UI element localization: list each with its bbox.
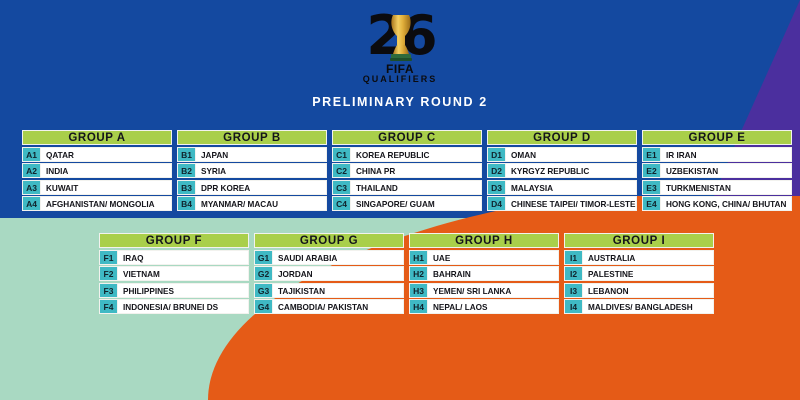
group-table-group-i: GROUP II1AUSTRALIAI2PALESTINEI3LEBANONI4… (564, 233, 714, 314)
table-row: A3KUWAIT (22, 180, 172, 195)
seed-code: E2 (642, 163, 661, 178)
table-row: C2CHINA PR (332, 163, 482, 178)
team-name: NEPAL/ LAOS (428, 299, 559, 314)
seed-code: E4 (642, 196, 661, 211)
table-row: A1QATAR (22, 147, 172, 162)
table-row: A4AFGHANISTAN/ MONGOLIA (22, 196, 172, 211)
seed-code: C2 (332, 163, 351, 178)
table-row: F3PHILIPPINES (99, 283, 249, 298)
seed-code: E1 (642, 147, 661, 162)
table-row: D2KYRGYZ REPUBLIC (487, 163, 637, 178)
group-header: GROUP E (642, 130, 792, 145)
team-name: CHINA PR (351, 163, 482, 178)
group-header: GROUP I (564, 233, 714, 248)
seed-code: D3 (487, 180, 506, 195)
table-row: F4INDONESIA/ BRUNEI DS (99, 299, 249, 314)
table-row: G3TAJIKISTAN (254, 283, 404, 298)
seed-code: H3 (409, 283, 428, 298)
team-name: HONG KONG, CHINA/ BHUTAN (661, 196, 792, 211)
team-name: UAE (428, 250, 559, 265)
table-row: F1IRAQ (99, 250, 249, 265)
logo-qualifiers-text: QUALIFIERS (352, 74, 448, 84)
table-row: H2BAHRAIN (409, 266, 559, 281)
seed-code: D1 (487, 147, 506, 162)
poster-canvas: 26 FIFA QUALIFIERS PRELIMINARY ROUND (0, 0, 800, 400)
seed-code: H2 (409, 266, 428, 281)
table-row: E4HONG KONG, CHINA/ BHUTAN (642, 196, 792, 211)
table-row: E2UZBEKISTAN (642, 163, 792, 178)
team-name: AFGHANISTAN/ MONGOLIA (41, 196, 172, 211)
group-table-group-e: GROUP EE1IR IRANE2UZBEKISTANE3TURKMENIST… (642, 130, 792, 211)
team-name: UZBEKISTAN (661, 163, 792, 178)
table-row: H4NEPAL/ LAOS (409, 299, 559, 314)
table-row: D3MALAYSIA (487, 180, 637, 195)
group-header: GROUP F (99, 233, 249, 248)
table-row: B2SYRIA (177, 163, 327, 178)
seed-code: C1 (332, 147, 351, 162)
team-name: SAUDI ARABIA (273, 250, 404, 265)
team-name: KYRGYZ REPUBLIC (506, 163, 637, 178)
team-name: MALAYSIA (506, 180, 637, 195)
group-header: GROUP G (254, 233, 404, 248)
table-row: C4SINGAPORE/ GUAM (332, 196, 482, 211)
seed-code: A1 (22, 147, 41, 162)
seed-code: I3 (564, 283, 583, 298)
team-name: TURKMENISTAN (661, 180, 792, 195)
team-name: SYRIA (196, 163, 327, 178)
fifa-world-cup-26-logo: 26 FIFA QUALIFIERS (352, 8, 448, 86)
table-row: I4MALDIVES/ BANGLADESH (564, 299, 714, 314)
team-name: PALESTINE (583, 266, 714, 281)
table-row: I3LEBANON (564, 283, 714, 298)
seed-code: F1 (99, 250, 118, 265)
seed-code: E3 (642, 180, 661, 195)
seed-code: G4 (254, 299, 273, 314)
seed-code: B1 (177, 147, 196, 162)
group-header: GROUP A (22, 130, 172, 145)
team-name: JORDAN (273, 266, 404, 281)
team-name: KOREA REPUBLIC (351, 147, 482, 162)
table-row: A2INDIA (22, 163, 172, 178)
table-row: E1IR IRAN (642, 147, 792, 162)
table-row: C1KOREA REPUBLIC (332, 147, 482, 162)
table-row: G4CAMBODIA/ PAKISTAN (254, 299, 404, 314)
seed-code: A3 (22, 180, 41, 195)
team-name: MALDIVES/ BANGLADESH (583, 299, 714, 314)
team-name: LEBANON (583, 283, 714, 298)
table-row: F2VIETNAM (99, 266, 249, 281)
team-name: OMAN (506, 147, 637, 162)
poster-subtitle: PRELIMINARY ROUND 2 (0, 95, 800, 109)
team-name: AUSTRALIA (583, 250, 714, 265)
team-name: INDONESIA/ BRUNEI DS (118, 299, 249, 314)
group-table-group-b: GROUP BB1JAPANB2SYRIAB3DPR KOREAB4MYANMA… (177, 130, 327, 211)
group-table-group-a: GROUP AA1QATARA2INDIAA3KUWAITA4AFGHANIST… (22, 130, 172, 211)
seed-code: A2 (22, 163, 41, 178)
seed-code: I1 (564, 250, 583, 265)
seed-code: F4 (99, 299, 118, 314)
seed-code: A4 (22, 196, 41, 211)
seed-code: G1 (254, 250, 273, 265)
team-name: IR IRAN (661, 147, 792, 162)
table-row: H1UAE (409, 250, 559, 265)
seed-code: B4 (177, 196, 196, 211)
group-table-group-f: GROUP FF1IRAQF2VIETNAMF3PHILIPPINESF4IND… (99, 233, 249, 314)
seed-code: G2 (254, 266, 273, 281)
seed-code: D2 (487, 163, 506, 178)
table-row: D4CHINESE TAIPEI/ TIMOR-LESTE (487, 196, 637, 211)
table-row: I1AUSTRALIA (564, 250, 714, 265)
seed-code: G3 (254, 283, 273, 298)
group-header: GROUP H (409, 233, 559, 248)
team-name: TAJIKISTAN (273, 283, 404, 298)
team-name: QATAR (41, 147, 172, 162)
seed-code: D4 (487, 196, 506, 211)
team-name: CAMBODIA/ PAKISTAN (273, 299, 404, 314)
table-row: I2PALESTINE (564, 266, 714, 281)
team-name: CHINESE TAIPEI/ TIMOR-LESTE (506, 196, 637, 211)
seed-code: H1 (409, 250, 428, 265)
group-header: GROUP D (487, 130, 637, 145)
seed-code: F3 (99, 283, 118, 298)
seed-code: I2 (564, 266, 583, 281)
team-name: DPR KOREA (196, 180, 327, 195)
seed-code: I4 (564, 299, 583, 314)
group-header: GROUP B (177, 130, 327, 145)
table-row: G2JORDAN (254, 266, 404, 281)
team-name: MYANMAR/ MACAU (196, 196, 327, 211)
team-name: PHILIPPINES (118, 283, 249, 298)
group-table-group-h: GROUP HH1UAEH2BAHRAINH3YEMEN/ SRI LANKAH… (409, 233, 559, 314)
team-name: KUWAIT (41, 180, 172, 195)
seed-code: C3 (332, 180, 351, 195)
group-table-group-d: GROUP DD1OMAND2KYRGYZ REPUBLICD3MALAYSIA… (487, 130, 637, 211)
team-name: YEMEN/ SRI LANKA (428, 283, 559, 298)
team-name: THAILAND (351, 180, 482, 195)
group-table-group-g: GROUP GG1SAUDI ARABIAG2JORDANG3TAJIKISTA… (254, 233, 404, 314)
team-name: BAHRAIN (428, 266, 559, 281)
table-row: H3YEMEN/ SRI LANKA (409, 283, 559, 298)
team-name: SINGAPORE/ GUAM (351, 196, 482, 211)
team-name: IRAQ (118, 250, 249, 265)
table-row: B3DPR KOREA (177, 180, 327, 195)
seed-code: B3 (177, 180, 196, 195)
seed-code: C4 (332, 196, 351, 211)
trophy-icon (388, 12, 414, 62)
table-row: D1OMAN (487, 147, 637, 162)
poster-header: 26 FIFA QUALIFIERS PRELIMINARY ROUND (0, 8, 800, 109)
team-name: JAPAN (196, 147, 327, 162)
group-header: GROUP C (332, 130, 482, 145)
seed-code: B2 (177, 163, 196, 178)
seed-code: H4 (409, 299, 428, 314)
table-row: E3TURKMENISTAN (642, 180, 792, 195)
team-name: VIETNAM (118, 266, 249, 281)
table-row: B1JAPAN (177, 147, 327, 162)
table-row: G1SAUDI ARABIA (254, 250, 404, 265)
table-row: B4MYANMAR/ MACAU (177, 196, 327, 211)
table-row: C3THAILAND (332, 180, 482, 195)
team-name: INDIA (41, 163, 172, 178)
seed-code: F2 (99, 266, 118, 281)
group-table-group-c: GROUP CC1KOREA REPUBLICC2CHINA PRC3THAIL… (332, 130, 482, 211)
